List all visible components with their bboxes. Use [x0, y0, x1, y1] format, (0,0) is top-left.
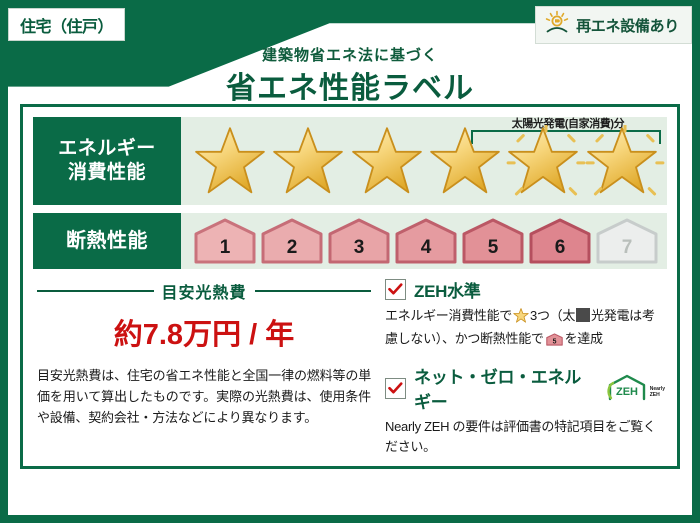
net-zero-checkbox[interactable]	[385, 378, 406, 399]
net-zero-energy-item: ネット・ゼロ・エネルギー ZEH NearlyZEH Nearly ZEH の要…	[385, 363, 665, 457]
utility-cost-block: 目安光熱費 約7.8万円 / 年 目安光熱費は、住宅の省エネ性能と全国一律の燃料…	[37, 279, 371, 428]
utility-cost-value: 約7.8万円 / 年	[37, 311, 371, 353]
zeh-logo: ZEH NearlyZEH	[606, 374, 665, 402]
utility-cost-title-row: 目安光熱費	[37, 279, 371, 303]
zeh-standard-title: ZEH水準	[414, 277, 481, 302]
rule-left	[37, 290, 154, 292]
insulation-performance-row: 断熱性能 1 2 3	[33, 213, 667, 269]
check-icon	[388, 283, 403, 296]
insulation-level-scale: 1 2 3 4	[193, 213, 659, 269]
star-5-solar	[506, 125, 580, 197]
zeh-desc-part1: エネルギー消費性能で	[385, 308, 512, 323]
insulation-level-number: 5	[488, 237, 499, 264]
insulation-level-4: 4	[394, 218, 458, 264]
net-zero-title: ネット・ゼロ・エネルギー	[414, 363, 594, 413]
energy-performance-label: 住宅（住戸） 再エネ設備あり 建築物省エネ法に基づく 省エネ性能ラベル	[0, 0, 700, 523]
rule-right	[255, 290, 372, 292]
insulation-level-7: 7	[595, 218, 659, 264]
svg-text:5: 5	[552, 339, 556, 346]
insulation-level-number: 4	[421, 237, 432, 264]
zeh-logo-sub: NearlyZEH	[650, 387, 665, 402]
net-zero-head: ネット・ゼロ・エネルギー ZEH NearlyZEH	[385, 363, 665, 413]
insulation-level-number: 2	[287, 237, 298, 264]
insulation-level-number: 6	[555, 237, 566, 264]
star-2	[271, 125, 345, 197]
utility-cost-title: 目安光熱費	[162, 279, 247, 303]
energy-label-line1: エネルギー	[58, 137, 156, 161]
energy-stars-area: 太陽光発電(自家消費)分	[181, 117, 667, 205]
heading-sub: 建築物省エネ法に基づく	[8, 44, 692, 65]
inline-house-icon: 5	[546, 332, 563, 353]
insulation-level-1: 1	[193, 218, 257, 264]
insulation-level-2: 2	[260, 218, 324, 264]
renewable-energy-badge: 再エネ設備あり	[535, 6, 692, 44]
check-icon	[388, 382, 403, 395]
zeh-standard-checkbox[interactable]	[385, 279, 406, 300]
insulation-level-3: 3	[327, 218, 391, 264]
label-content: 建築物省エネ法に基づく 省エネ性能ラベル エネルギー 消費性能 太陽光発電(自家…	[8, 8, 692, 515]
content-frame: エネルギー 消費性能 太陽光発電(自家消費)分	[20, 104, 680, 469]
star-4	[428, 125, 502, 197]
star-6-solar	[585, 125, 659, 197]
energy-consumption-row: エネルギー 消費性能 太陽光発電(自家消費)分	[33, 117, 667, 205]
zeh-standard-description: エネルギー消費性能で3つ（太光発電は考慮しない）、かつ断熱性能で5を達成	[385, 306, 665, 353]
star-rating	[193, 117, 659, 205]
category-tag: 住宅（住戸）	[8, 8, 125, 41]
insulation-level-6: 6	[528, 218, 592, 264]
zeh-house-icon: ZEH	[606, 374, 648, 402]
page-title: 省エネ性能ラベル	[8, 63, 692, 107]
net-zero-description: Nearly ZEH の要件は評価書の特記項目をご覧ください。	[385, 417, 665, 457]
insulation-levels-area: 1 2 3 4	[181, 213, 667, 269]
utility-cost-description: 目安光熱費は、住宅の省エネ性能と全国一律の燃料等の単価を用いて算出したものです。…	[37, 366, 371, 428]
insulation-level-number: 7	[622, 237, 633, 264]
insulation-performance-label: 断熱性能	[33, 213, 181, 269]
renewable-badge-label: 再エネ設備あり	[576, 15, 679, 36]
energy-consumption-label: エネルギー 消費性能	[33, 117, 181, 205]
zeh-standard-item: ZEH水準 エネルギー消費性能で3つ（太光発電は考慮しない）、かつ断熱性能で5を…	[385, 277, 665, 353]
svg-text:ZEH: ZEH	[616, 386, 638, 398]
redacted-character	[576, 308, 590, 322]
sun-icon	[544, 10, 570, 41]
zeh-standard-head: ZEH水準	[385, 277, 665, 302]
inline-star-icon	[513, 308, 529, 329]
zeh-block: ZEH水準 エネルギー消費性能で3つ（太光発電は考慮しない）、かつ断熱性能で5を…	[385, 277, 665, 468]
zeh-desc-part3: を達成	[565, 331, 603, 346]
insulation-level-5: 5	[461, 218, 525, 264]
zeh-desc-star-count: 3つ（太	[530, 308, 575, 323]
star-1	[193, 125, 267, 197]
insulation-level-number: 3	[354, 237, 365, 264]
star-3	[350, 125, 424, 197]
insulation-level-number: 1	[220, 237, 231, 264]
energy-label-line2: 消費性能	[68, 161, 146, 185]
